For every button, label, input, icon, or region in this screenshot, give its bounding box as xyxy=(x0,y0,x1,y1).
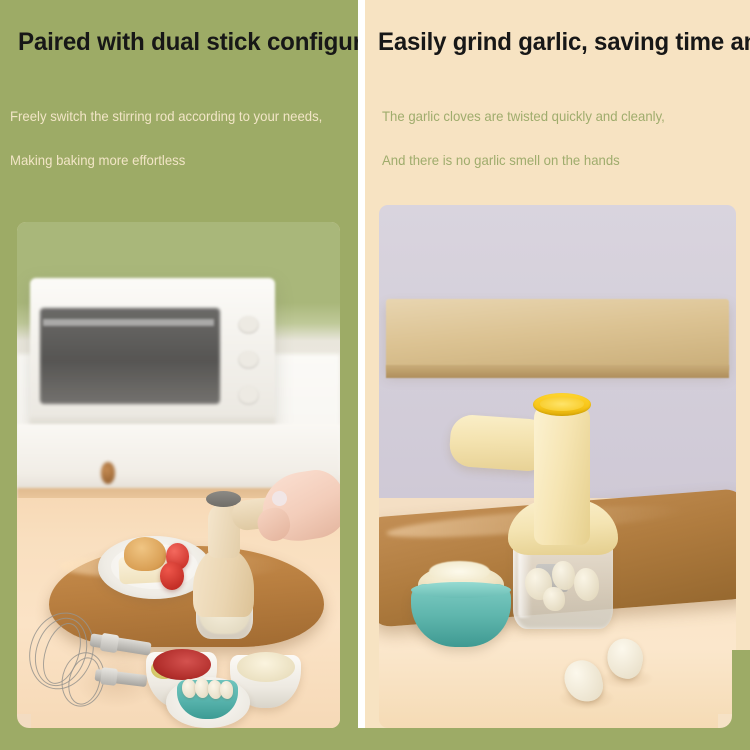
panel-left-subtitle-line-2: Making baking more effortless xyxy=(10,152,185,168)
oven-knob xyxy=(238,351,259,369)
oven-glass-highlight xyxy=(43,319,214,326)
product-feature-banner: Paired with dual stick configuration Fre… xyxy=(0,0,750,750)
panel-left: Paired with dual stick configuration Fre… xyxy=(0,0,358,750)
garlic-clove xyxy=(220,681,234,698)
wooden-shelf xyxy=(386,299,729,372)
oven-knob xyxy=(238,316,259,334)
panel-right: Easily grind garlic, saving time and eff… xyxy=(365,0,750,750)
shelf-edge xyxy=(386,365,729,379)
teal-bowl-rim xyxy=(411,582,511,599)
panel-divider xyxy=(358,0,365,750)
chopper-neck xyxy=(534,404,589,545)
garlic-clove-in-jar xyxy=(552,561,575,590)
panel-right-product-photo xyxy=(379,205,736,728)
panel-right-subtitle-line-2: And there is no garlic smell on the hand… xyxy=(382,152,620,168)
panel-right-subtitle-line-1: The garlic cloves are twisted quickly an… xyxy=(382,108,665,124)
frame-corner-bottom-left xyxy=(17,714,31,728)
cap-inner-ring xyxy=(540,397,585,411)
garlic-clove-in-jar xyxy=(574,568,599,600)
frame-corner-bottom-right xyxy=(718,714,732,728)
panel-left-title: Paired with dual stick configuration xyxy=(18,28,358,57)
frame-edge-bottom xyxy=(0,728,750,750)
minced-garlic-highlight xyxy=(429,561,490,582)
panel-left-product-photo xyxy=(17,222,340,728)
cabinet-handle xyxy=(101,462,115,483)
panel-right-title: Easily grind garlic, saving time and eff… xyxy=(378,28,750,57)
garlic-clove-in-jar xyxy=(543,587,564,611)
chopper-body xyxy=(193,548,254,616)
whisk-collar xyxy=(100,633,120,654)
muffin xyxy=(124,537,166,570)
oven-knob xyxy=(238,386,259,404)
whisk-collar xyxy=(100,667,118,686)
minced-meat xyxy=(153,649,211,680)
panel-left-subtitle-line-1: Freely switch the stirring rod according… xyxy=(10,108,322,124)
garlic-clove xyxy=(182,679,196,697)
